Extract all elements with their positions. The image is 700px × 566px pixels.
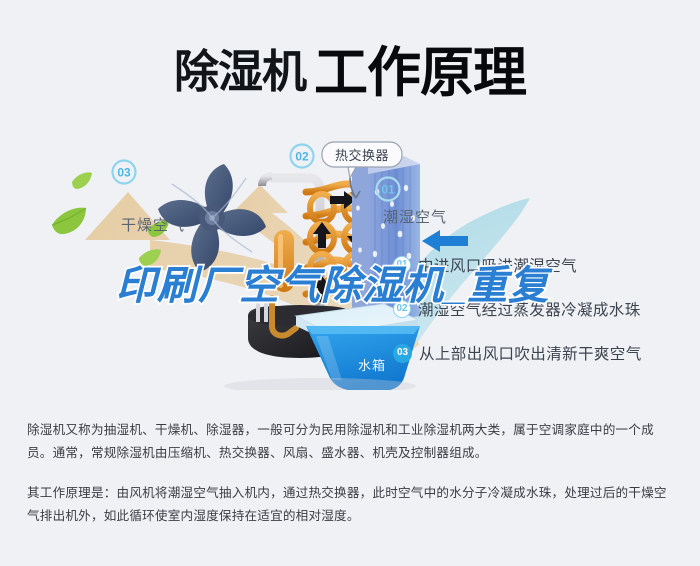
body-copy: 除湿机又称为抽湿机、干燥机、除湿器，一般可分为民用除湿机和工业除湿机两大类，属于… bbox=[27, 419, 679, 545]
water-tank-label: 水箱 bbox=[358, 358, 386, 373]
dehumidifier-infographic: 除湿机工作原理 bbox=[0, 0, 700, 566]
step-badge-03: 03 bbox=[393, 344, 412, 363]
heat-exchanger-badge-text: 02 bbox=[295, 150, 309, 164]
page-title-part-1: 除湿机 bbox=[174, 46, 306, 97]
humid-air-badge-text: 01 bbox=[381, 183, 395, 197]
heat-exchanger-label: 热交换器 bbox=[335, 148, 389, 163]
page-title-part-2: 工作原理 bbox=[314, 43, 526, 103]
step-text-03: 从上部出风口吹出清新干爽空气 bbox=[419, 342, 642, 364]
paragraph-1: 除湿机又称为抽湿机、干燥机、除湿器，一般可分为民用除湿机和工业除湿机两大类，属于… bbox=[27, 419, 679, 465]
paragraph-2: 其工作原理是：由风机将潮湿空气抽入机内，通过热交换器，此时空气中的水分子冷凝成水… bbox=[27, 482, 679, 528]
dry-air-badge-text: 03 bbox=[117, 166, 131, 180]
watermark-text: 印刷厂空气除湿机_重复 bbox=[116, 266, 549, 306]
humid-air-label: 潮湿空气 bbox=[383, 209, 447, 226]
page-title: 除湿机工作原理 bbox=[0, 28, 700, 107]
list-item: 03 从上部出风口吹出清新干爽空气 bbox=[393, 340, 693, 366]
